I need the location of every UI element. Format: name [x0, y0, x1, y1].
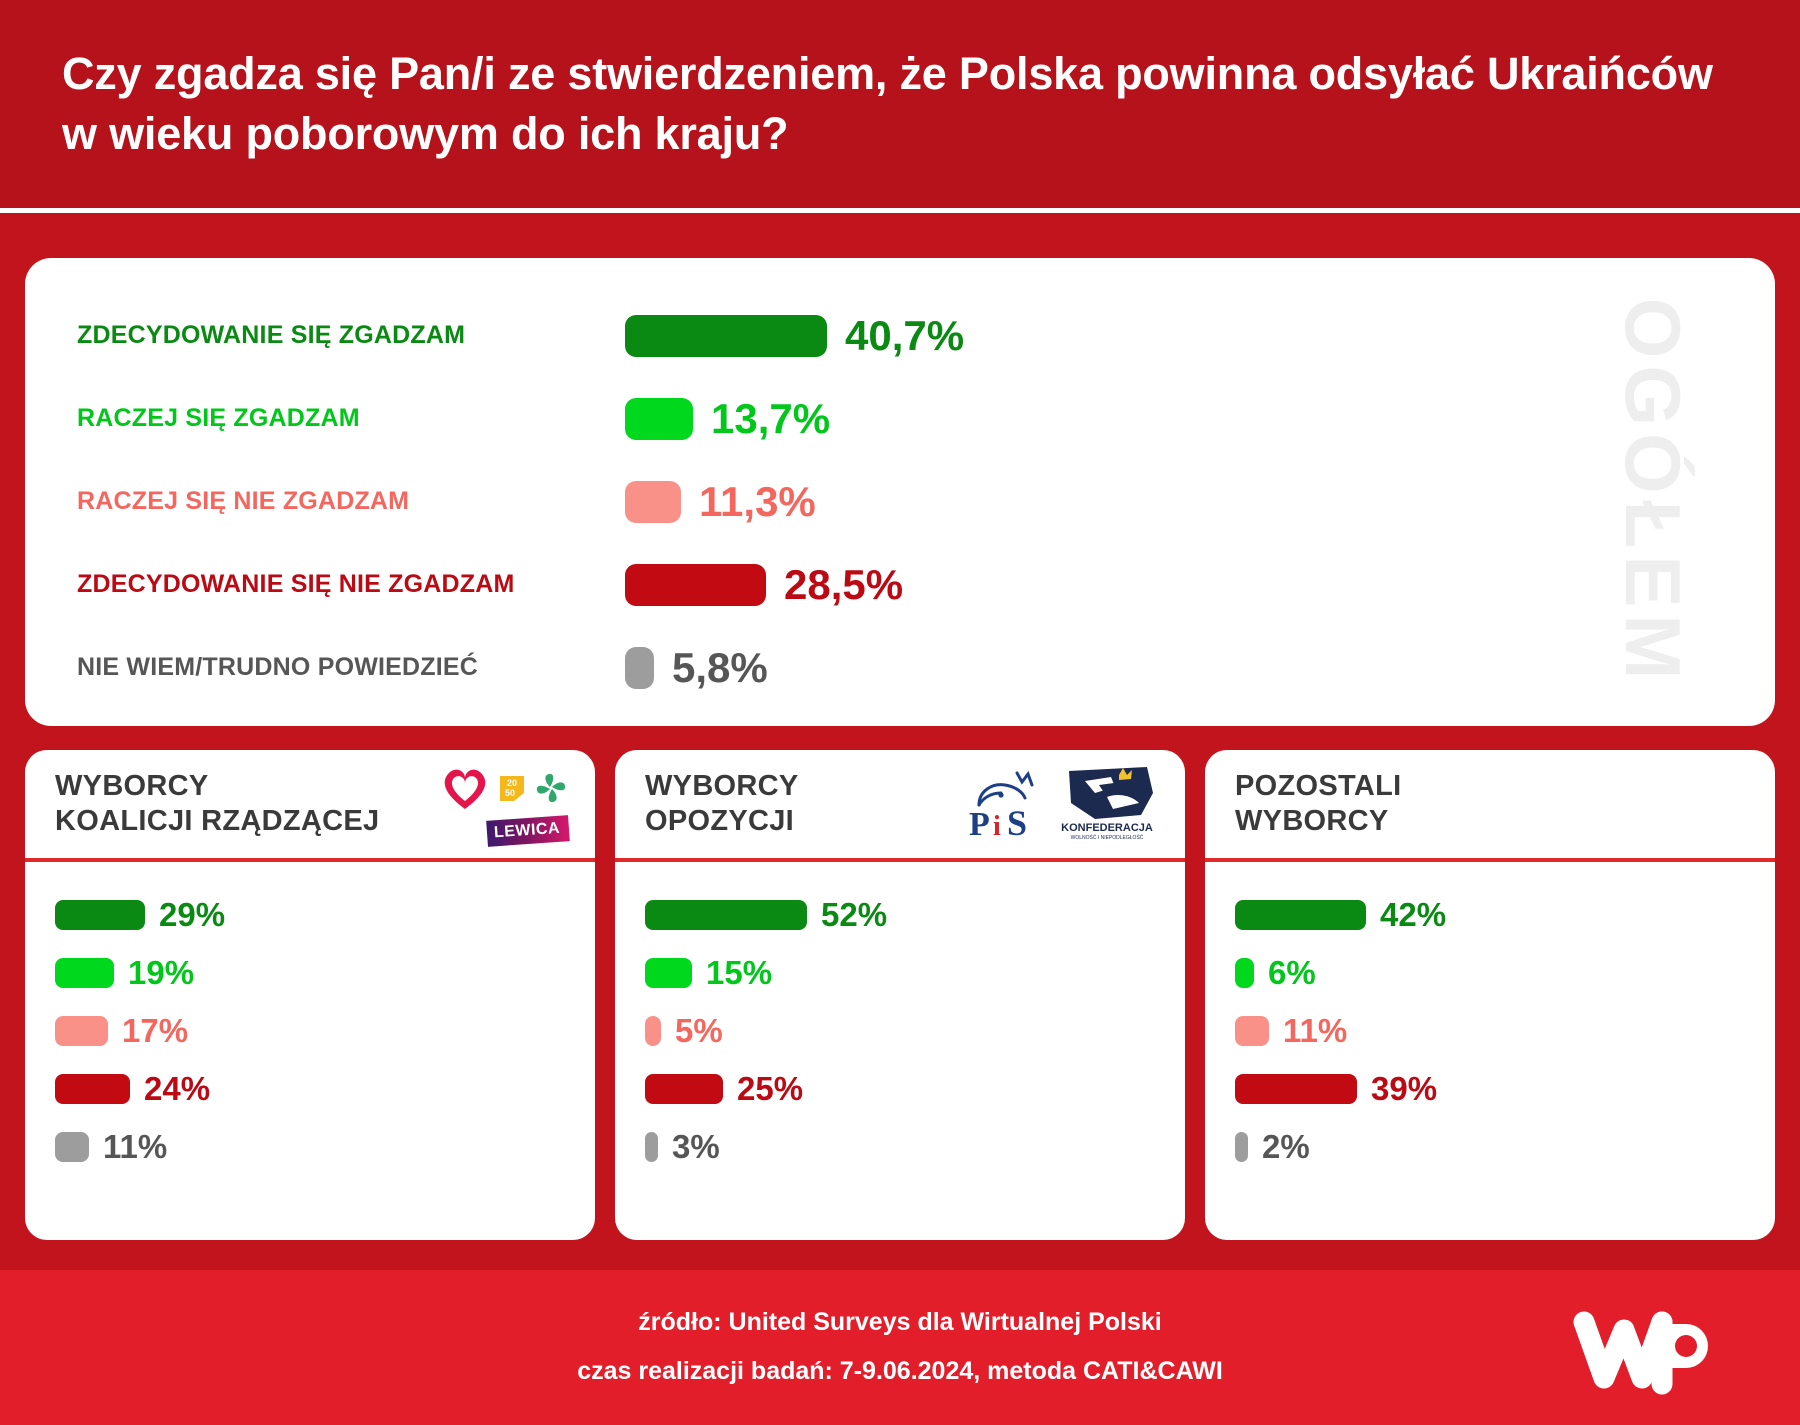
group-row: 11%: [25, 1118, 595, 1176]
group-bar: [645, 958, 692, 988]
group-card: POZOSTALI WYBORCY42%6%11%39%2%: [1205, 750, 1775, 1240]
svg-text:S: S: [1007, 803, 1027, 839]
page-title: Czy zgadza się Pan/i ze stwierdzeniem, ż…: [0, 44, 1800, 164]
overall-row-label: ZDECYDOWANIE SIĘ NIE ZGADZAM: [25, 570, 625, 599]
group-row: 52%: [615, 886, 1185, 944]
group-bar: [1235, 1074, 1357, 1104]
group-row: 2%: [1205, 1118, 1775, 1176]
overall-row: ZDECYDOWANIE SIĘ ZGADZAM40,7%: [25, 294, 1775, 377]
overall-bar-wrap: 13,7%: [625, 395, 830, 443]
svg-text:P: P: [969, 806, 990, 839]
group-bar: [1235, 900, 1366, 930]
infographic-sheet: Czy zgadza się Pan/i ze stwierdzeniem, ż…: [0, 0, 1800, 1425]
group-row-value: 52%: [821, 896, 887, 934]
group-row-value: 11%: [103, 1128, 167, 1166]
group-card: WYBORCY KOALICJI RZĄDZĄCEJ 20 50 LEWIC: [25, 750, 595, 1240]
group-rows: 42%6%11%39%2%: [1205, 862, 1775, 1176]
svg-text:50: 50: [505, 788, 515, 798]
coalition-logo-row: 20 50: [439, 765, 569, 816]
overall-rows: ZDECYDOWANIE SIĘ ZGADZAM40,7%RACZEJ SIĘ …: [25, 258, 1775, 709]
group-row-value: 39%: [1371, 1070, 1437, 1108]
group-row-value: 24%: [144, 1070, 210, 1108]
group-row-value: 2%: [1262, 1128, 1310, 1166]
group-card-header: WYBORCY KOALICJI RZĄDZĄCEJ 20 50 LEWIC: [25, 750, 595, 862]
group-bar: [645, 1074, 723, 1104]
source-line: źródło: United Surveys dla Wirtualnej Po…: [0, 1298, 1800, 1347]
group-row: 19%: [25, 944, 595, 1002]
group-row-value: 42%: [1380, 896, 1446, 934]
group-row: 5%: [615, 1002, 1185, 1060]
group-title: WYBORCY KOALICJI RZĄDZĄCEJ: [55, 769, 379, 840]
group-title: POZOSTALI WYBORCY: [1235, 769, 1402, 840]
group-rows: 52%15%5%25%3%: [615, 862, 1185, 1176]
group-logos: 20 50 LEWICA: [439, 765, 569, 844]
group-row: 25%: [615, 1060, 1185, 1118]
heart-icon: [439, 765, 491, 816]
group-row-value: 25%: [737, 1070, 803, 1108]
group-bar: [645, 1132, 658, 1162]
overall-row-label: RACZEJ SIĘ NIE ZGADZAM: [25, 487, 625, 516]
group-cards: WYBORCY KOALICJI RZĄDZĄCEJ 20 50 LEWIC: [25, 750, 1775, 1240]
svg-text:i: i: [993, 811, 1001, 839]
group-bar: [1235, 1016, 1269, 1046]
wp-logo: [1570, 1304, 1738, 1396]
overall-bar: [625, 315, 827, 357]
group-bar: [645, 900, 807, 930]
method-line: czas realizacji badań: 7-9.06.2024, meto…: [0, 1347, 1800, 1396]
overall-results-card: OGÓŁEM ZDECYDOWANIE SIĘ ZGADZAM40,7%RACZ…: [25, 258, 1775, 726]
overall-bar-wrap: 11,3%: [625, 478, 816, 526]
group-row: 6%: [1205, 944, 1775, 1002]
footer-text: źródło: United Surveys dla Wirtualnej Po…: [0, 1298, 1800, 1396]
group-row-value: 6%: [1268, 954, 1316, 992]
group-bar: [55, 1016, 108, 1046]
overall-bar: [625, 398, 693, 440]
overall-bar-wrap: 28,5%: [625, 561, 903, 609]
group-logos: P i S KONFEDERACJA WOLNOŚĆ I NIEPODLEGŁO…: [961, 763, 1159, 846]
overall-row: NIE WIEM/TRUDNO POWIEDZIEĆ5,8%: [25, 626, 1775, 709]
group-row-value: 3%: [672, 1128, 720, 1166]
group-card-header: WYBORCY OPOZYCJI P i S KONFEDERACJA WOLN…: [615, 750, 1185, 862]
group-row: 17%: [25, 1002, 595, 1060]
group-row-value: 5%: [675, 1012, 723, 1050]
overall-row-label: RACZEJ SIĘ ZGADZAM: [25, 404, 625, 433]
overall-row-value: 13,7%: [711, 395, 830, 443]
poland2050-icon: 20 50: [497, 773, 527, 808]
overall-bar-wrap: 5,8%: [625, 644, 768, 692]
svg-text:WOLNOŚĆ I NIEPODLEGŁOŚĆ: WOLNOŚĆ I NIEPODLEGŁOŚĆ: [1071, 833, 1144, 841]
overall-row: RACZEJ SIĘ NIE ZGADZAM11,3%: [25, 460, 1775, 543]
overall-row-label: NIE WIEM/TRUDNO POWIEDZIEĆ: [25, 653, 625, 682]
group-row: 11%: [1205, 1002, 1775, 1060]
svg-text:KONFEDERACJA: KONFEDERACJA: [1061, 822, 1153, 834]
group-row: 3%: [615, 1118, 1185, 1176]
group-card: WYBORCY OPOZYCJI P i S KONFEDERACJA WOLN…: [615, 750, 1185, 1240]
group-title: WYBORCY OPOZYCJI: [645, 769, 799, 840]
group-row: 39%: [1205, 1060, 1775, 1118]
group-row-value: 15%: [706, 954, 772, 992]
group-row: 24%: [25, 1060, 595, 1118]
footer: źródło: United Surveys dla Wirtualnej Po…: [0, 1270, 1800, 1425]
group-row-value: 19%: [128, 954, 194, 992]
group-row-value: 17%: [122, 1012, 188, 1050]
group-bar: [55, 900, 145, 930]
group-bar: [55, 958, 114, 988]
overall-bar: [625, 647, 654, 689]
overall-bar-wrap: 40,7%: [625, 312, 964, 360]
group-bar: [1235, 1132, 1248, 1162]
lewica-logo: LEWICA: [486, 815, 570, 847]
overall-row-value: 5,8%: [672, 644, 768, 692]
header-banner: Czy zgadza się Pan/i ze stwierdzeniem, ż…: [0, 0, 1800, 208]
group-row: 42%: [1205, 886, 1775, 944]
coalition-logo-stack: 20 50 LEWICA: [439, 765, 569, 844]
overall-row: ZDECYDOWANIE SIĘ NIE ZGADZAM28,5%: [25, 543, 1775, 626]
overall-bar: [625, 481, 681, 523]
group-card-header: POZOSTALI WYBORCY: [1205, 750, 1775, 862]
group-row-value: 29%: [159, 896, 225, 934]
group-row: 29%: [25, 886, 595, 944]
group-bar: [55, 1074, 130, 1104]
group-bar: [55, 1132, 89, 1162]
psl-clover-icon: [533, 770, 569, 811]
group-rows: 29%19%17%24%11%: [25, 862, 595, 1176]
svg-text:20: 20: [507, 778, 517, 788]
group-bar: [1235, 958, 1254, 988]
pis-logo: P i S: [961, 765, 1047, 844]
overall-row-value: 28,5%: [784, 561, 903, 609]
overall-row-label: ZDECYDOWANIE SIĘ ZGADZAM: [25, 321, 625, 350]
overall-row-value: 40,7%: [845, 312, 964, 360]
group-row-value: 11%: [1283, 1012, 1347, 1050]
overall-row-value: 11,3%: [699, 478, 816, 526]
overall-bar: [625, 564, 766, 606]
konfederacja-logo: KONFEDERACJA WOLNOŚĆ I NIEPODLEGŁOŚĆ: [1055, 763, 1159, 846]
group-bar: [645, 1016, 661, 1046]
group-row: 15%: [615, 944, 1185, 1002]
overall-row: RACZEJ SIĘ ZGADZAM13,7%: [25, 377, 1775, 460]
